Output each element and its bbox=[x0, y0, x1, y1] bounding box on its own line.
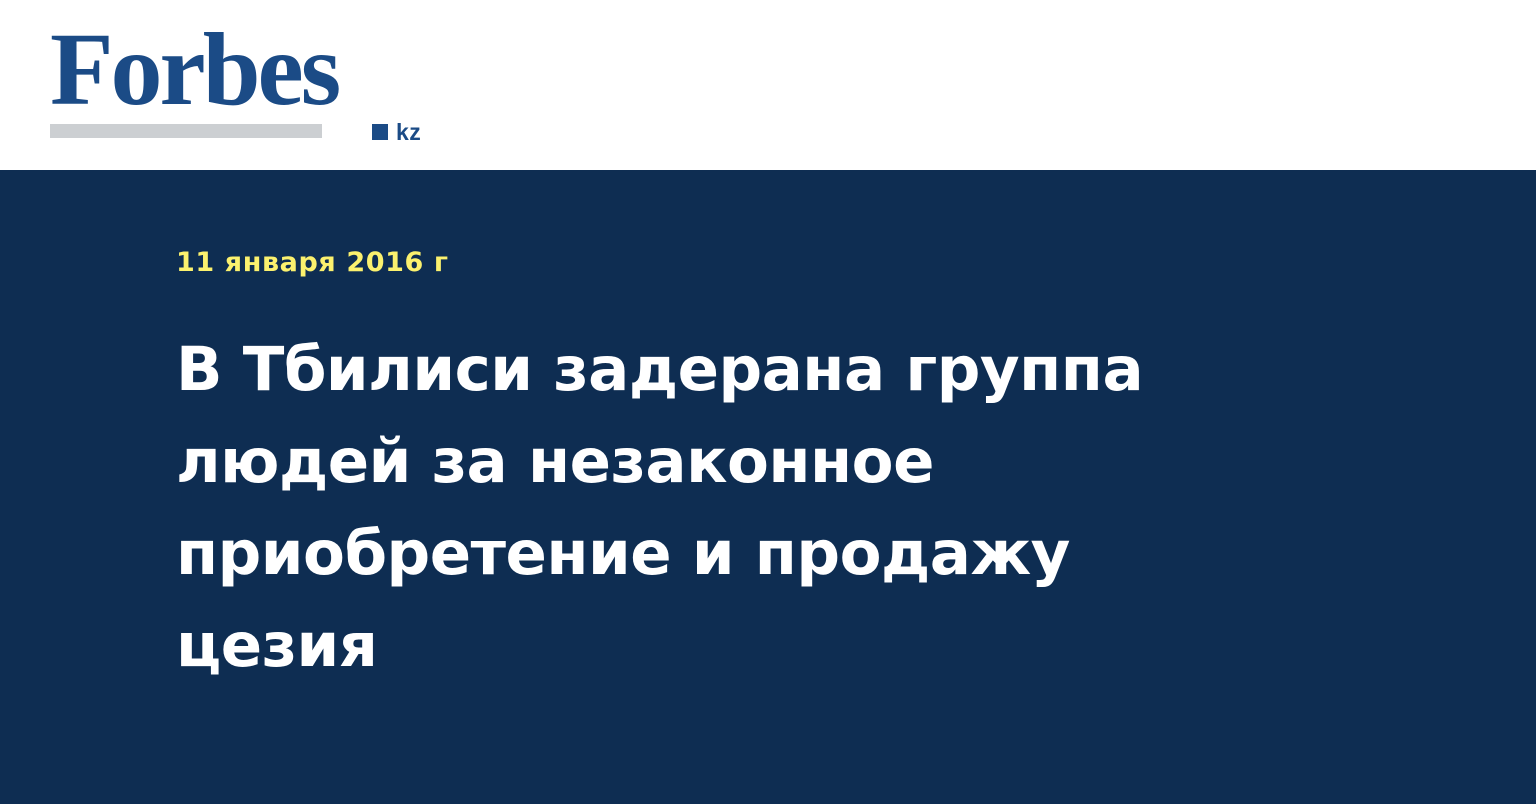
blue-square-icon bbox=[372, 124, 388, 140]
article-headline: В Тбилиси задерана группа людей за незак… bbox=[176, 324, 1286, 692]
article-hero-page: Forbes kz 11 января 2016 г В Тбилиси зад… bbox=[0, 0, 1536, 804]
site-masthead: Forbes kz bbox=[0, 0, 1536, 170]
article-publish-date: 11 января 2016 г bbox=[176, 248, 1336, 278]
article-hero-banner: 11 января 2016 г В Тбилиси задерана груп… bbox=[0, 170, 1536, 804]
forbes-kz-logo[interactable]: Forbes kz bbox=[50, 18, 410, 144]
article-hero-content: 11 января 2016 г В Тбилиси задерана груп… bbox=[176, 248, 1336, 692]
forbes-wordmark: Forbes bbox=[50, 18, 338, 122]
logo-kz-suffix: kz bbox=[396, 121, 421, 144]
gray-rule-divider-icon bbox=[50, 124, 322, 138]
